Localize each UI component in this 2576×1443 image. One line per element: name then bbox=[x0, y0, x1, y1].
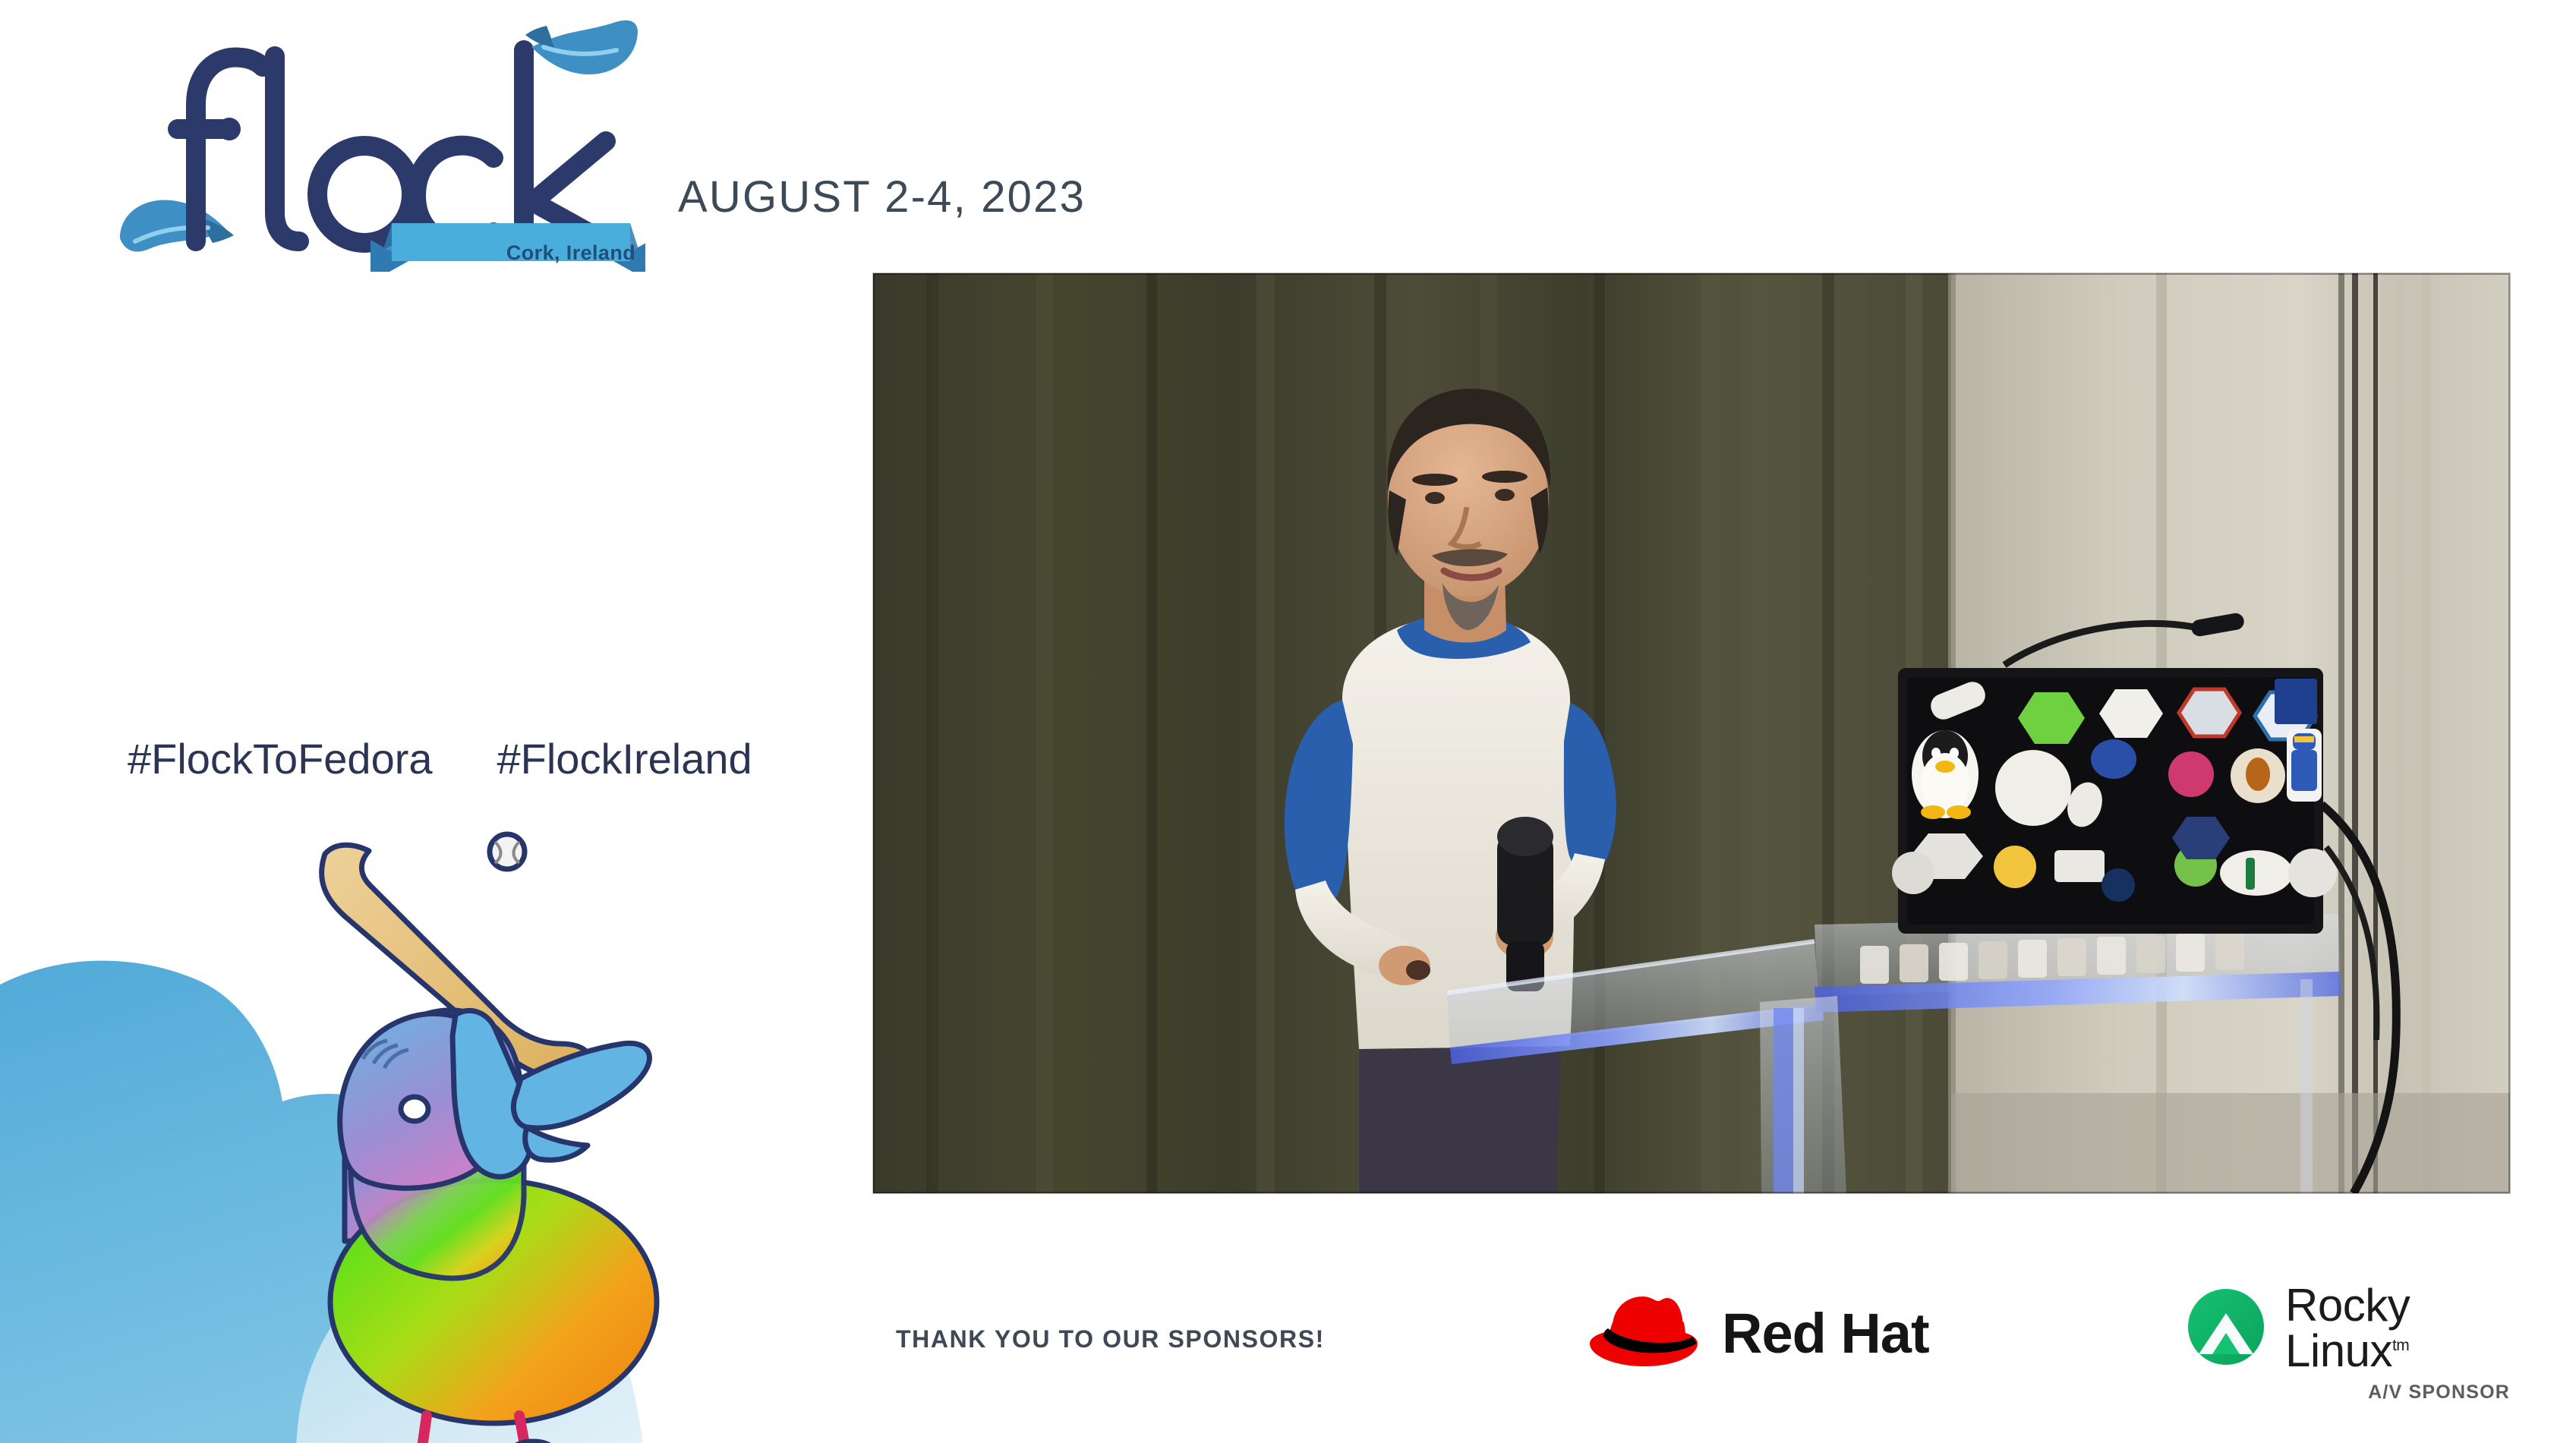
trademark-mark: tm bbox=[2392, 1337, 2409, 1354]
flock-bird-mascot: .ol { stroke:#26356b; stroke-width:7; st… bbox=[266, 816, 706, 1443]
sponsor-row: THANK YOU TO OUR SPONSORS! Red Hat bbox=[873, 1252, 2510, 1397]
slide-stage: .ink { fill:none; stroke:#2b3a6b; stroke… bbox=[0, 0, 2576, 1443]
blue-figure-sticker bbox=[2287, 729, 2322, 802]
ribbon-label: Cork, Ireland bbox=[484, 241, 658, 265]
rocky-linux-label: Rocky Linuxtm bbox=[2285, 1283, 2510, 1374]
feather-icon-left bbox=[120, 200, 234, 251]
sliotar-ball-icon bbox=[490, 834, 525, 869]
sponsor-rocky-linux[interactable]: Rocky Linuxtm A/V SPONSOR bbox=[2187, 1283, 2510, 1404]
live-stream-video[interactable] bbox=[873, 273, 2510, 1193]
hashtag-flocktofedora: #FlockToFedora bbox=[128, 734, 433, 783]
hashtag-row: #FlockToFedora #FlockIreland bbox=[128, 734, 752, 783]
flock-logo: .ink { fill:none; stroke:#2b3a6b; stroke… bbox=[114, 14, 645, 272]
hashtag-flockireland: #FlockIreland bbox=[497, 734, 752, 783]
sponsor-red-hat[interactable]: Red Hat bbox=[1587, 1289, 1929, 1378]
sponsors-label: THANK YOU TO OUR SPONSORS! bbox=[896, 1325, 1325, 1353]
red-hat-fedora-icon bbox=[1587, 1289, 1701, 1378]
event-date: AUGUST 2-4, 2023 bbox=[678, 172, 1086, 222]
red-hat-label: Red Hat bbox=[1722, 1306, 1929, 1362]
rocky-linux-note: A/V SPONSOR bbox=[2187, 1382, 2510, 1404]
feather-icon-right bbox=[525, 20, 638, 74]
rocky-linux-mountain-icon bbox=[2187, 1287, 2265, 1370]
